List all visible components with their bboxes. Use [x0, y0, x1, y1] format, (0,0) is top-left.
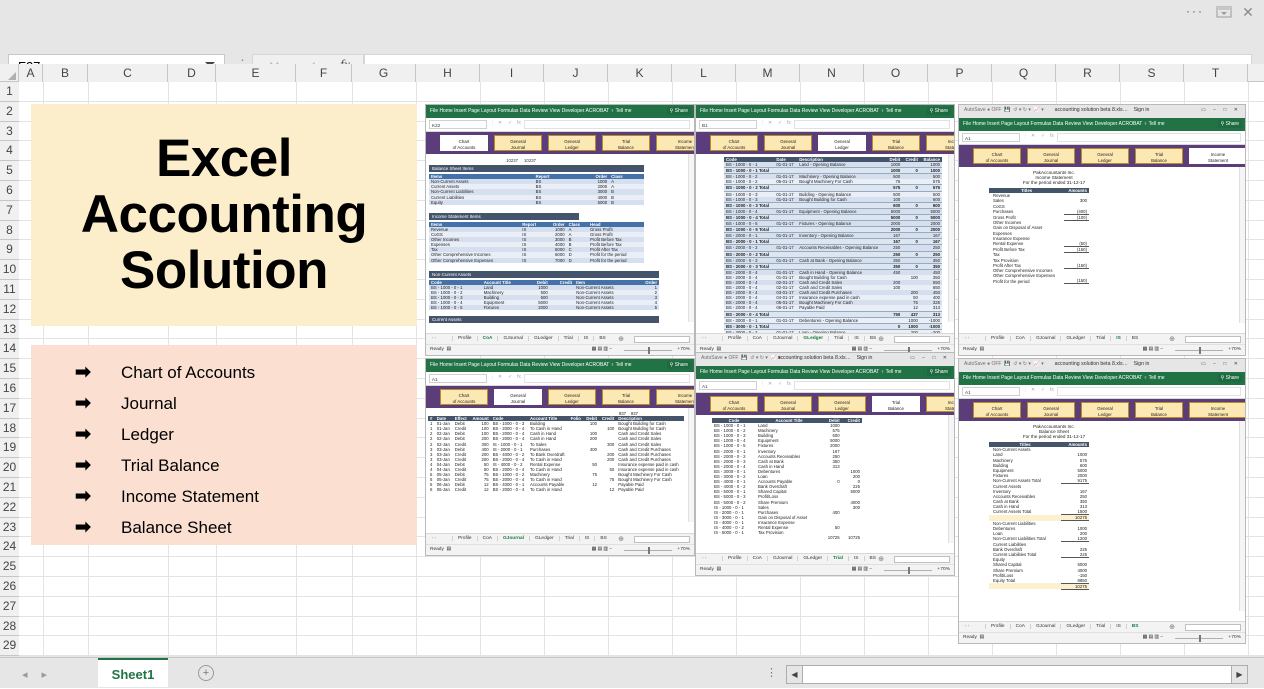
table-cell: IS [520, 258, 545, 263]
zoom-level[interactable]: 70% [680, 547, 690, 552]
table-cell: IS - 2000 - 0 - 1 [491, 447, 528, 452]
column-header-C[interactable]: C [88, 64, 168, 82]
column-header-R[interactable]: R [1056, 64, 1120, 82]
more-options-icon[interactable]: ··· [1186, 5, 1204, 17]
mini-sheet-tabs[interactable]: ProfileCoAGJournalGLedgerTrialISBS [985, 336, 1143, 341]
table-cell [989, 583, 1061, 589]
row-header-25[interactable]: 25 [0, 557, 19, 577]
share-button[interactable]: ⚲ Share [927, 368, 951, 376]
mini-sheet-tabs[interactable]: ProfileCoAGJournalGLedgerTrialISBS [722, 336, 881, 341]
table-cell [569, 487, 584, 492]
table-cell: BS - 2000 - 0 - 2 Total [724, 251, 774, 257]
mini-tab-coa[interactable]: CoA [477, 336, 498, 341]
mini-horizontal-scrollbar[interactable] [634, 336, 690, 343]
mini-add-sheet-icon[interactable]: ⊕ [618, 335, 624, 343]
mini-name-box[interactable]: K22 [429, 120, 487, 129]
nav-tab-general-journal[interactable]: GeneralJournal [1027, 148, 1075, 164]
mini-horizontal-scrollbar[interactable] [894, 336, 950, 343]
mini-enter-icon[interactable]: ✓ [778, 381, 782, 387]
mini-ribbon-tabs[interactable]: File Home Insert Page Layout Formulas Da… [700, 369, 902, 375]
nav-tab-trial-balance[interactable]: TrialBalance [872, 135, 920, 151]
mini-grip-icon: ⋮ [1023, 133, 1028, 139]
arrow-right-icon: ➡ [75, 456, 121, 475]
mini-ribbon-tabs[interactable]: File Home Insert Page Layout Formulas Da… [430, 362, 632, 368]
mini-fx-icon[interactable]: fx [787, 381, 791, 387]
mini-name-box[interactable]: A1 [699, 381, 757, 390]
row-header-2[interactable]: 2 [0, 102, 19, 122]
table-row: Current LiabilitiesBS4000B [429, 195, 644, 200]
income-statement-table: TitlesAmounts RevenueSales300CoGSPurchas… [989, 188, 1089, 284]
mini-tab-profile[interactable]: Profile [452, 336, 477, 341]
row-header-12[interactable]: 12 [0, 300, 19, 320]
mini-tab-gjournal[interactable]: GJournal [497, 536, 529, 541]
mini-cancel-icon[interactable]: ✕ [768, 120, 772, 126]
nav-tab-income-statement[interactable]: IncomeStatement [926, 396, 955, 412]
mini-tab-coa[interactable]: CoA [1010, 624, 1030, 629]
zoom-level[interactable]: 70% [940, 567, 950, 572]
table-cell: Other Comprehensive Expenses [429, 258, 520, 263]
mini-tab-trial[interactable]: Trial [559, 536, 579, 541]
mini-enter-icon[interactable]: ✓ [508, 120, 512, 126]
screenshot-income-statement[interactable]: AutoSave ● OFF 💾 ↺ ▾ ↻ ▾ 📈 ▾ accounting … [958, 104, 1246, 356]
table-cell: BS - 3000 - 0 - 1 Total [724, 323, 774, 329]
table-cell: Equity [429, 200, 534, 205]
scroll-right-icon[interactable]: ▶ [1231, 665, 1248, 684]
mini-add-sheet-icon[interactable]: ⊕ [1169, 335, 1175, 343]
mini-ribbon: File Home Insert Page Layout Formulas Da… [696, 105, 954, 118]
column-header-J[interactable]: J [544, 64, 608, 82]
mini-fx-icon[interactable]: fx [1050, 133, 1054, 139]
mini-enter-icon[interactable]: ✓ [778, 120, 782, 126]
close-icon[interactable]: ✕ [1238, 3, 1258, 21]
row-header-11[interactable]: 11 [0, 280, 19, 300]
mini-window-title: accounting solution beta 8.xls… Sign in [1055, 361, 1150, 367]
mini-add-sheet-icon[interactable]: ⊕ [1169, 623, 1175, 631]
mini-cancel-icon[interactable]: ✕ [1031, 387, 1035, 393]
mini-window-buttons[interactable]: ▭ − □ ✕ [1201, 107, 1241, 113]
mini-horizontal-scrollbar[interactable] [1185, 624, 1241, 631]
table-row-totals: 1072510725 [712, 535, 862, 540]
non-current-assets-table: CodeAccount TitleDebitCreditItemOrderBS … [429, 280, 659, 311]
general-journal-table: #DateEffectAmountCodeAccount TitleFolioD… [428, 416, 684, 492]
mini-tab-is[interactable]: IS [848, 556, 864, 561]
mini-vertical-scrollbar[interactable] [688, 154, 694, 322]
row-header-22[interactable]: 22 [0, 498, 19, 518]
mini-sheet-tab-bar: ‹ ›ProfileCoAGJournalGLedgerTrialISBS⊕ [426, 333, 694, 344]
table-cell: D [567, 258, 588, 263]
nav-tab-chart-of-accounts[interactable]: Chartof Accounts [440, 389, 488, 405]
mini-tab-gjournal[interactable]: GJournal [497, 336, 527, 341]
list-item: ➡Journal [75, 388, 417, 419]
column-header-M[interactable]: M [736, 64, 800, 82]
title-line-3: Solution [81, 243, 367, 299]
mini-ribbon: File Home Insert Page Layout Formulas Da… [426, 105, 694, 118]
row-header-21[interactable]: 21 [0, 478, 19, 498]
status-ready: Ready ▤ [963, 347, 984, 352]
column-header-L[interactable]: L [672, 64, 736, 82]
mini-cancel-icon[interactable]: ✕ [1031, 133, 1035, 139]
mini-tab-coa[interactable]: CoA [747, 556, 767, 561]
zoom-level[interactable]: 70% [680, 347, 690, 352]
title-line-1: Excel [81, 131, 367, 187]
mini-nav-bar: Chartof AccountsGeneralJournalGeneralLed… [959, 399, 1245, 421]
row-header-16[interactable]: 16 [0, 379, 19, 399]
mini-sheet-tab-bar: ‹ ›ProfileCoAGJournalGLedgerTrialISBS⊕ [696, 553, 954, 564]
sheet-nav-arrows-icon[interactable]: ‹ › [432, 336, 437, 341]
column-header-F[interactable]: F [296, 64, 352, 82]
nav-tab-trial-balance[interactable]: TrialBalance [602, 135, 650, 151]
row-header-28[interactable]: 28 [0, 617, 19, 636]
status-ready: Ready ▤ [700, 567, 721, 572]
mini-sheet-tabs[interactable]: ProfileCoAGJournalGLedgerTrialISBS [985, 624, 1143, 629]
mini-tab-profile[interactable]: Profile [985, 624, 1010, 629]
mini-tab-gledger[interactable]: GLedger [1060, 624, 1090, 629]
feature-list: ➡Chart of Accounts ➡Journal ➡Ledger ➡Tri… [31, 345, 417, 545]
nav-tab-general-ledger[interactable]: GeneralLedger [818, 135, 866, 151]
table-cell: BS - 1000 - 0 - 3 Total [724, 202, 774, 208]
mini-tab-is[interactable]: IS [578, 336, 594, 341]
row-header-24[interactable]: 24 [0, 537, 19, 557]
mini-name-box[interactable]: B1 [699, 120, 757, 129]
autosave-toggle[interactable]: AutoSave ● OFF 💾 ↺ ▾ ↻ ▾ 📈 ▾ [964, 107, 1044, 113]
row-header-27[interactable]: 27 [0, 597, 19, 617]
share-button[interactable]: ⚲ Share [1218, 120, 1242, 128]
mini-fx-icon[interactable]: fx [787, 120, 791, 126]
row-header-9[interactable]: 9 [0, 240, 19, 260]
mini-tab-profile[interactable]: Profile [985, 336, 1010, 341]
mini-enter-icon[interactable]: ✓ [1041, 387, 1045, 393]
nav-tab-income-statement[interactable]: IncomeStatement [1189, 402, 1246, 418]
mini-sheet-tabs[interactable]: ProfileCoAGJournalGLedgerTrialISBS [452, 336, 611, 341]
share-button[interactable]: ⚲ Share [667, 361, 691, 369]
table-cell: 01-01-17 [774, 197, 797, 203]
nav-tab-general-ledger[interactable]: GeneralLedger [818, 396, 866, 412]
column-header-S[interactable]: S [1120, 64, 1184, 82]
nav-tab-chart-of-accounts[interactable]: Chartof Accounts [710, 135, 758, 151]
table-cell: 5000 [574, 200, 609, 205]
mini-enter-icon[interactable]: ✓ [508, 374, 512, 380]
nav-tab-general-ledger[interactable]: GeneralLedger [548, 135, 596, 151]
nav-tab-general-journal[interactable]: GeneralJournal [1027, 402, 1075, 418]
title-line-2: Accounting [81, 187, 367, 243]
mini-formula-input[interactable] [524, 374, 690, 383]
column-header-P[interactable]: P [928, 64, 992, 82]
mini-window-buttons[interactable]: ▭ − □ ✕ [910, 355, 950, 361]
nav-tab-general-ledger[interactable]: GeneralLedger [1081, 148, 1129, 164]
mini-cancel-icon[interactable]: ✕ [498, 120, 502, 126]
share-button[interactable]: ⚲ Share [927, 107, 951, 115]
table-row: 606-JanCredit12BS - 2000 - 0 - 4 To Cash… [428, 487, 684, 492]
mini-status-bar: Ready ▤70%▦ ▤ ▥ −+ [426, 544, 694, 555]
feature-label: Chart of Accounts [121, 363, 255, 383]
next-sheet-icon[interactable]: ▸ [42, 669, 62, 681]
mini-fx-icon[interactable]: fx [517, 374, 521, 380]
mini-tab-is[interactable]: IS [848, 336, 864, 341]
mini-formula-input[interactable] [794, 120, 950, 129]
table-cell: Fixtures [482, 305, 528, 310]
nav-tab-income-statement[interactable]: IncomeStatement [926, 135, 955, 151]
mini-tab-gledger[interactable]: GLedger [529, 536, 559, 541]
nav-tab-income-statement[interactable]: IncomeStatement [656, 135, 695, 151]
mini-tab-gjournal[interactable]: GJournal [767, 336, 797, 341]
nav-tab-income-statement[interactable]: IncomeStatement [1189, 148, 1246, 164]
list-item: ➡Balance Sheet [75, 512, 417, 543]
section-header: Current Assets [429, 316, 659, 323]
row-header-4[interactable]: 4 [0, 141, 19, 161]
mini-formula-input[interactable] [1057, 387, 1241, 396]
mini-tab-bs[interactable]: BS [594, 536, 611, 541]
row-header-23[interactable]: 23 [0, 518, 19, 537]
nav-tab-general-journal[interactable]: GeneralJournal [764, 135, 812, 151]
table-cell: Accounts Receivables - Opening Balance [797, 245, 886, 251]
nav-tab-trial-balance[interactable]: TrialBalance [872, 396, 920, 412]
mini-name-box[interactable]: A1 [962, 133, 1020, 142]
mini-enter-icon[interactable]: ✓ [1041, 133, 1045, 139]
report-period: For the period ended 31-12-17 [979, 180, 1129, 185]
ribbon-display-options-icon[interactable] [1214, 3, 1234, 21]
mini-tab-profile[interactable]: Profile [452, 536, 477, 541]
arrow-right-icon: ➡ [75, 518, 121, 537]
trial-balance-table: CodeAccount TitleDebitCredit BS - 1000 -… [712, 418, 862, 540]
sheet-nav-arrows-icon[interactable]: ‹ › [432, 536, 437, 541]
prev-sheet-icon[interactable]: ◂ [22, 669, 42, 681]
column-header-T[interactable]: T [1184, 64, 1248, 82]
mini-ribbon-tabs[interactable]: File Home Insert Page Layout Formulas Da… [430, 108, 632, 114]
income-statement-items-table: ItemsReportOrderClassHeadRevenueIS1000AG… [429, 222, 644, 263]
total-debit: 10725 [822, 535, 842, 540]
mini-sheet-tab-bar: ‹ ›ProfileCoAGJournalGLedgerTrialISBS⊕ [426, 533, 694, 544]
table-cell [584, 487, 599, 492]
sheet-nav-arrows-icon[interactable]: ‹ › [702, 336, 707, 341]
mini-horizontal-scrollbar[interactable] [634, 536, 690, 543]
mini-vertical-scrollbar[interactable] [1239, 167, 1245, 323]
column-header-A[interactable]: A [19, 64, 43, 82]
nav-tab-chart-of-accounts[interactable]: Chartof Accounts [973, 402, 1021, 418]
mini-tab-trial[interactable]: Trial [827, 556, 848, 561]
mini-horizontal-scrollbar[interactable] [894, 556, 950, 563]
mini-window-buttons[interactable]: ▭ − □ ✕ [1201, 361, 1241, 367]
row-header-29[interactable]: 29 [0, 636, 19, 656]
add-sheet-icon[interactable]: + [198, 665, 214, 681]
status-ready: Ready ▤ [430, 547, 451, 552]
share-button[interactable]: ⚲ Share [1218, 374, 1242, 382]
mini-add-sheet-icon[interactable]: ⊕ [618, 535, 624, 543]
table-cell: Credit [453, 487, 470, 492]
mini-tab-gjournal[interactable]: GJournal [767, 556, 797, 561]
mini-cancel-icon[interactable]: ✕ [498, 374, 502, 380]
mini-ribbon-tabs[interactable]: File Home Insert Page Layout Formulas Da… [963, 121, 1165, 127]
mini-formula-bar: A1 ⋮ ✕ ✓ fx [426, 372, 694, 386]
mini-ribbon-tabs[interactable]: File Home Insert Page Layout Formulas Da… [700, 108, 902, 114]
row-header-8[interactable]: 8 [0, 221, 19, 240]
screenshot-general-ledger[interactable]: File Home Insert Page Layout Formulas Da… [695, 104, 955, 356]
mini-horizontal-scrollbar[interactable] [1185, 336, 1241, 343]
zoom-level[interactable]: 70% [1231, 347, 1241, 352]
mini-fx-icon[interactable]: fx [1050, 387, 1054, 393]
section-header: Balance Sheet Items [429, 165, 644, 172]
column-header-B[interactable]: B [43, 64, 88, 82]
mini-window-title: accounting solution beta 8.xls… Sign in [778, 355, 873, 361]
zoom-level[interactable]: 70% [1231, 635, 1241, 640]
table-cell: BS - 2000 - 0 - 3 Total [724, 263, 774, 269]
mini-formula-input[interactable] [1057, 133, 1241, 142]
table-cell: 01-01-17 [774, 191, 797, 197]
row-header-3[interactable]: 3 [0, 122, 19, 141]
table-cell: 01-01-17 [774, 317, 797, 323]
mini-formula-input[interactable] [524, 120, 690, 129]
mini-vertical-scrollbar[interactable] [1239, 421, 1245, 611]
mini-tab-trial[interactable]: Trial [1090, 624, 1110, 629]
column-header-cell: Amounts [1064, 188, 1089, 193]
row-header-14[interactable]: 14 [0, 339, 19, 359]
mini-fx-icon[interactable]: fx [517, 120, 521, 126]
mini-tab-coa[interactable]: CoA [747, 336, 767, 341]
table-row: Other Comprehensive ExpensesIS7000DProfi… [429, 258, 644, 263]
mini-tab-trial[interactable]: Trial [828, 336, 848, 341]
row-header-7[interactable]: 7 [0, 201, 19, 221]
mini-tab-gledger[interactable]: GLedger [1060, 336, 1090, 341]
table-row: 10275 [989, 583, 1089, 589]
row-header-18[interactable]: 18 [0, 419, 19, 438]
table-cell: Payable Paid [616, 487, 684, 492]
mini-tab-is[interactable]: IS [579, 536, 595, 541]
nav-tab-chart-of-accounts[interactable]: Chartof Accounts [440, 135, 488, 151]
mini-tab-is[interactable]: IS [1110, 336, 1126, 341]
mini-tab-trial[interactable]: Trial [558, 336, 578, 341]
mini-tab-gledger[interactable]: GLedger [797, 556, 827, 561]
autosave-toggle[interactable]: AutoSave ● OFF 💾 ↺ ▾ ↻ ▾ 📈 ▾ [964, 361, 1044, 367]
row-header-26[interactable]: 26 [0, 577, 19, 597]
mini-tab-profile[interactable]: Profile [722, 336, 747, 341]
mini-sheet-tab-bar: ‹ ›ProfileCoAGJournalGLedgerTrialISBS⊕ [959, 621, 1245, 632]
row-header-17[interactable]: 17 [0, 399, 19, 419]
screenshot-general-journal[interactable]: File Home Insert Page Layout Formulas Da… [425, 358, 695, 556]
column-header-Q[interactable]: Q [992, 64, 1056, 82]
mini-vertical-scrollbar[interactable] [948, 415, 954, 543]
mini-tab-profile[interactable]: Profile [722, 556, 747, 561]
mini-sheet-tab-bar: ‹ ›ProfileCoAGJournalGLedgerTrialISBS⊕ [959, 333, 1245, 344]
nav-tab-trial-balance[interactable]: TrialBalance [1135, 148, 1183, 164]
column-header-N[interactable]: N [800, 64, 864, 82]
mini-tab-coa[interactable]: CoA [1010, 336, 1030, 341]
table-cell: Other Comprehensive Expenses [989, 273, 1064, 278]
report-period: For the period ended 31-12-17 [979, 434, 1129, 439]
screenshot-balance-sheet[interactable]: AutoSave ● OFF 💾 ↺ ▾ ↻ ▾ 📈 ▾ accounting … [958, 358, 1246, 644]
table-cell: 5 [636, 305, 659, 310]
column-header-H[interactable]: H [416, 64, 480, 82]
mini-status-bar: Ready ▤70%▦ ▤ ▥ −+ [959, 632, 1245, 643]
tab-split-grip-icon[interactable]: ⋮ [766, 666, 777, 679]
column-header-E[interactable]: E [216, 64, 296, 82]
horizontal-scrollbar[interactable] [786, 665, 1248, 684]
table-cell: BS - 2000 - 0 - 1 Total [724, 239, 774, 245]
nav-tab-general-ledger[interactable]: GeneralLedger [548, 389, 596, 405]
mini-nav-bar: Chartof AccountsGeneralJournalGeneralLed… [426, 386, 694, 408]
sheet-tab-sheet1[interactable]: Sheet1 [98, 658, 168, 687]
row-header-15[interactable]: 15 [0, 359, 19, 379]
sheet-nav-arrows-icon[interactable]: ‹ › [702, 556, 707, 561]
mini-vertical-scrollbar[interactable] [688, 408, 694, 522]
row-header-5[interactable]: 5 [0, 161, 19, 181]
mini-ribbon: File Home Insert Page Layout Formulas Da… [426, 359, 694, 372]
mini-sheet-tab-bar: ‹ ›ProfileCoAGJournalGLedgerTrialISBS⊕ [696, 333, 954, 344]
column-header-O[interactable]: O [864, 64, 928, 82]
select-all-corner[interactable] [0, 64, 19, 82]
mini-name-box[interactable]: A1 [962, 387, 1020, 396]
nav-tab-trial-balance[interactable]: TrialBalance [602, 389, 650, 405]
mini-vertical-scrollbar[interactable] [948, 154, 954, 322]
mini-add-sheet-icon[interactable]: ⊕ [878, 335, 884, 343]
mini-tab-gledger[interactable]: GLedger [528, 336, 558, 341]
mini-tab-gjournal[interactable]: GJournal [1030, 624, 1060, 629]
nav-tab-trial-balance[interactable]: TrialBalance [1135, 402, 1183, 418]
row-header-10[interactable]: 10 [0, 260, 19, 280]
list-item: ➡Trial Balance [75, 450, 417, 481]
mini-tab-bs[interactable]: BS [1126, 624, 1144, 629]
table-cell: 2000 [528, 305, 550, 310]
mini-grip-icon: ⋮ [490, 374, 495, 380]
column-header-K[interactable]: K [608, 64, 672, 82]
mini-tab-coa[interactable]: CoA [477, 536, 497, 541]
status-ready: Ready ▤ [963, 635, 984, 640]
mini-add-sheet-icon[interactable]: ⊕ [878, 555, 884, 563]
mini-sheet-tabs[interactable]: ProfileCoAGJournalGLedgerTrialISBS [452, 536, 612, 541]
screenshot-chart-of-accounts[interactable]: File Home Insert Page Layout Formulas Da… [425, 104, 695, 356]
nav-tab-chart-of-accounts[interactable]: Chartof Accounts [973, 148, 1021, 164]
column-header-G[interactable]: G [352, 64, 416, 82]
nav-tab-income-statement[interactable]: IncomeStatement [656, 389, 695, 405]
mini-tab-trial[interactable]: Trial [1090, 336, 1110, 341]
mini-ribbon-tabs[interactable]: File Home Insert Page Layout Formulas Da… [963, 375, 1165, 381]
sheet-nav-arrows[interactable]: ◂▸ [22, 668, 61, 681]
screenshot-trial-balance[interactable]: AutoSave ● OFF 💾 ↺ ▾ ↻ ▾ 📈 ▾ accounting … [695, 352, 955, 576]
formula-bar: F27 ⋮ ✕ ✓ fx [0, 24, 1264, 62]
table-row: EquityBS5000B [429, 200, 644, 205]
mini-tab-gledger[interactable]: GLedger [797, 336, 828, 341]
sheet-nav-arrows-icon[interactable]: ‹ › [965, 336, 970, 341]
nav-tab-general-journal[interactable]: GeneralJournal [764, 396, 812, 412]
mini-cancel-icon[interactable]: ✕ [768, 381, 772, 387]
mini-tab-bs[interactable]: BS [1126, 336, 1143, 341]
nav-tab-chart-of-accounts[interactable]: Chartof Accounts [710, 396, 758, 412]
mini-tab-gjournal[interactable]: GJournal [1030, 336, 1060, 341]
mini-formula-input[interactable] [794, 381, 950, 390]
mini-formula-bar: A1 ⋮ ✕ ✓ fx [959, 385, 1245, 399]
row-header-13[interactable]: 13 [0, 320, 19, 339]
row-header-6[interactable]: 6 [0, 181, 19, 201]
mini-name-box[interactable]: A1 [429, 374, 487, 383]
row-header-20[interactable]: 20 [0, 458, 19, 478]
row-header-1[interactable]: 1 [0, 82, 19, 102]
autosave-toggle[interactable]: AutoSave ● OFF 💾 ↺ ▾ ↻ ▾ 📈 ▾ [701, 355, 781, 361]
table-cell: BS - 1000 - 0 - 5 [429, 305, 482, 310]
nav-tab-general-journal[interactable]: GeneralJournal [494, 135, 542, 151]
scroll-left-icon[interactable]: ◀ [786, 665, 803, 684]
mini-grip-icon: ⋮ [490, 120, 495, 126]
mini-tab-is[interactable]: IS [1110, 624, 1126, 629]
column-header-D[interactable]: D [168, 64, 216, 82]
share-button[interactable]: ⚲ Share [667, 107, 691, 115]
table-cell [550, 305, 574, 310]
nav-tab-general-journal[interactable]: GeneralJournal [494, 389, 542, 405]
column-header-I[interactable]: I [480, 64, 544, 82]
mini-tab-bs[interactable]: BS [593, 336, 610, 341]
mini-grip-icon: ⋮ [760, 120, 765, 126]
nav-tab-general-ledger[interactable]: GeneralLedger [1081, 402, 1129, 418]
row-header-19[interactable]: 19 [0, 438, 19, 458]
sheet-nav-arrows-icon[interactable]: ‹ › [965, 624, 970, 629]
mini-sheet-tabs[interactable]: ProfileCoAGJournalGLedgerTrialISBS [722, 556, 881, 561]
